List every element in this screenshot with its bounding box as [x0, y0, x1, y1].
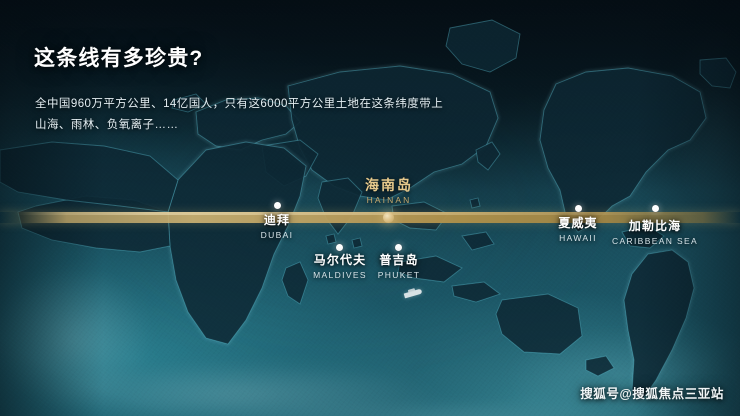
- marker-label-hainan: 海南岛 HAINAN: [365, 178, 413, 206]
- boat-icon: [404, 289, 422, 296]
- marker-label-dubai: 迪拜 DUBAI: [261, 213, 294, 241]
- latitude-band-highlight: [0, 212, 740, 215]
- marker-name-en: MALDIVES: [313, 269, 367, 281]
- marker-label-phuket: 普吉岛 PHUKET: [378, 253, 421, 281]
- marker-name-en: DUBAI: [261, 229, 294, 241]
- marker-dot-icon: [395, 244, 402, 251]
- marker-label-maldives: 马尔代夫 MALDIVES: [313, 253, 367, 281]
- marker-dot-icon: [575, 205, 582, 212]
- marker-name-cn: 马尔代夫: [313, 253, 367, 267]
- watermark: 搜狐号@搜狐焦点三亚站: [580, 383, 724, 402]
- marker-dot-icon: [336, 244, 343, 251]
- infographic-poster: 这条线有多珍贵? 全中国960万平方公里、14亿国人，只有这6000平方公里土地…: [0, 0, 740, 416]
- marker-name-cn: 普吉岛: [378, 253, 421, 267]
- marker-name-en: CARIBBEAN SEA: [612, 235, 698, 247]
- marker-dot-icon: [274, 202, 281, 209]
- marker-name-cn: 迪拜: [261, 213, 294, 227]
- marker-label-caribbean-sea: 加勒比海 CARIBBEAN SEA: [612, 219, 698, 247]
- subtitle-line-2: 山海、雨林、负氧离子……: [35, 115, 443, 136]
- marker-name-cn: 海南岛: [365, 178, 413, 192]
- marker-label-hawaii: 夏威夷 HAWAII: [558, 216, 597, 244]
- marker-name-en: HAINAN: [365, 194, 413, 206]
- marker-name-cn: 夏威夷: [558, 216, 597, 230]
- marker-dot-hainan-icon: [383, 212, 394, 223]
- subtitle-line-1: 全中国960万平方公里、14亿国人，只有这6000平方公里土地在这条纬度带上: [35, 94, 443, 115]
- subtitle-block: 全中国960万平方公里、14亿国人，只有这6000平方公里土地在这条纬度带上 山…: [35, 94, 443, 136]
- marker-dot-icon: [652, 205, 659, 212]
- marker-name-en: PHUKET: [378, 269, 421, 281]
- page-title: 这条线有多珍贵?: [34, 42, 203, 72]
- marker-name-en: HAWAII: [558, 232, 597, 244]
- marker-name-cn: 加勒比海: [612, 219, 698, 233]
